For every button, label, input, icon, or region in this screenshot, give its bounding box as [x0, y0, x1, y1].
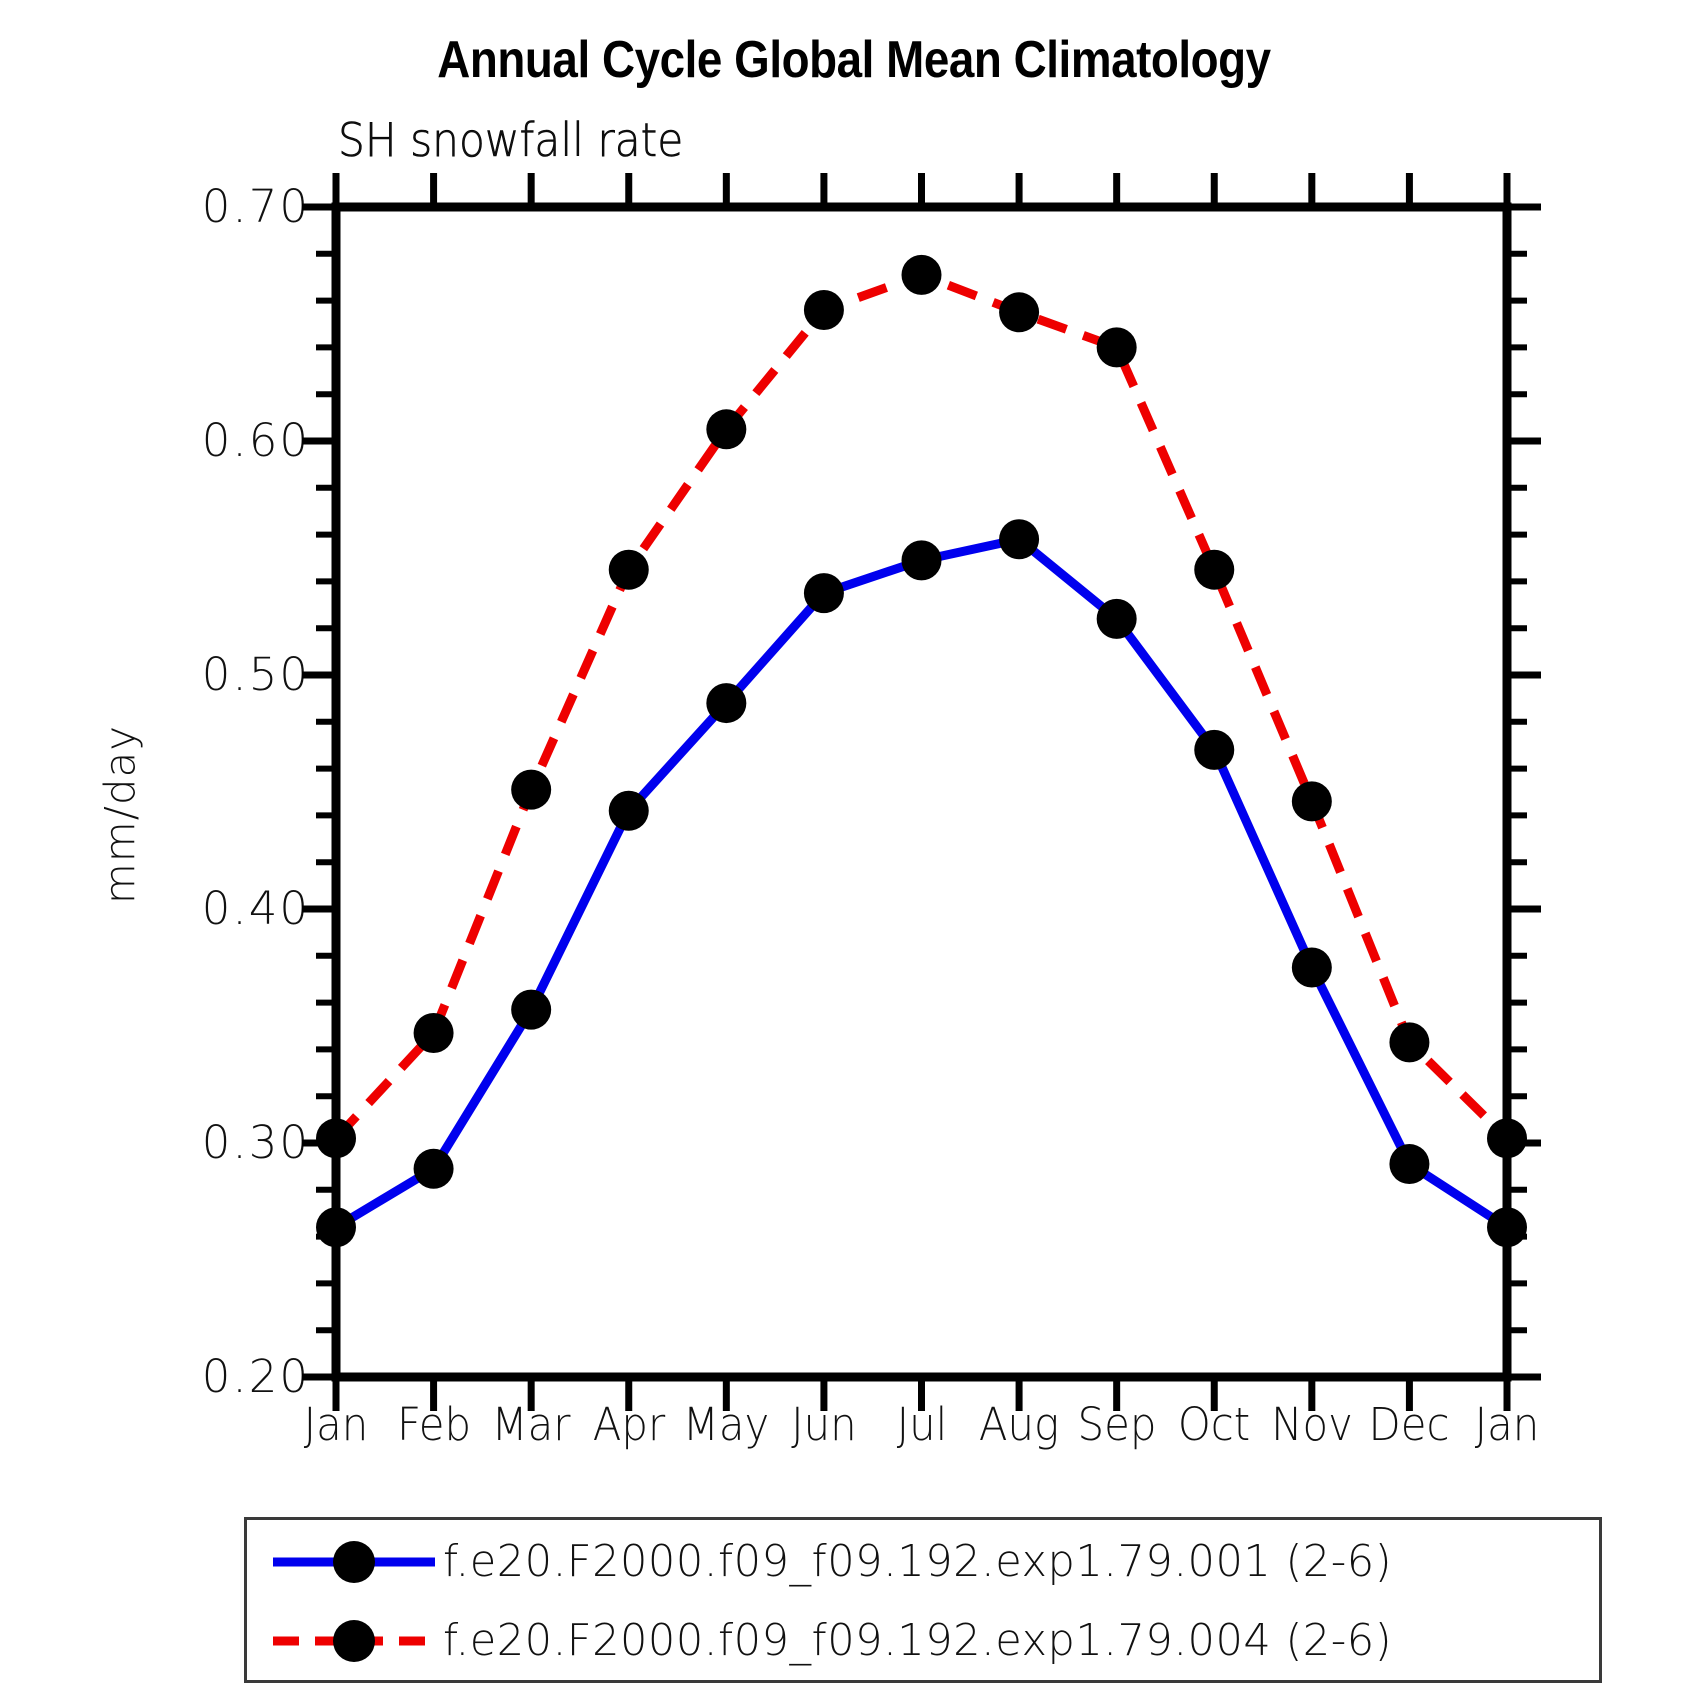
data-point-marker [804, 290, 844, 330]
data-point-marker [999, 292, 1039, 332]
data-point-marker [1487, 1118, 1527, 1158]
data-point-marker [1194, 550, 1234, 590]
x-axis-tick-labels: JanFebMarAprMayJunJulAugSepOctNovDecJan [336, 1400, 1507, 1460]
data-point-marker [1097, 599, 1137, 639]
data-point-marker [999, 519, 1039, 559]
data-point-marker [706, 409, 746, 449]
data-point-marker [609, 550, 649, 590]
data-point-marker [902, 255, 942, 295]
y-tick-label: 0.20 [110, 1354, 310, 1399]
page-title: Annual Cycle Global Mean Climatology [102, 30, 1605, 90]
chart-page: Annual Cycle Global Mean Climatology SH … [0, 0, 1708, 1708]
data-point-marker [511, 990, 551, 1030]
legend-label-1: f.e20.F2000.f09_f09.192.exp1.79.004 (2-6… [443, 1617, 1392, 1665]
plot-canvas [336, 207, 1507, 1377]
x-tick-label: Jan [1433, 1400, 1582, 1450]
data-point-marker [1097, 327, 1137, 367]
legend-swatch-1 [269, 1611, 439, 1671]
data-point-marker [1487, 1207, 1527, 1247]
legend-item-1[interactable]: f.e20.F2000.f09_f09.192.exp1.79.004 (2-6… [247, 1599, 1599, 1682]
data-point-marker [414, 1013, 454, 1053]
data-point-marker [609, 791, 649, 831]
data-point-marker [316, 1207, 356, 1247]
y-tick-label: 0.60 [110, 418, 310, 463]
legend-label-0: f.e20.F2000.f09_f09.192.exp1.79.001 (2-6… [443, 1538, 1392, 1586]
data-point-marker [414, 1149, 454, 1189]
y-axis-title: mm/day [96, 665, 145, 965]
data-point-marker [1389, 1022, 1429, 1062]
legend: f.e20.F2000.f09_f09.192.exp1.79.001 (2-6… [244, 1517, 1602, 1683]
legend-item-0[interactable]: f.e20.F2000.f09_f09.192.exp1.79.001 (2-6… [247, 1520, 1599, 1603]
series-line-0 [336, 539, 1507, 1227]
data-point-marker [1389, 1144, 1429, 1184]
data-point-marker [706, 683, 746, 723]
data-point-marker [316, 1118, 356, 1158]
data-point-marker [1292, 948, 1332, 988]
data-point-marker [1194, 730, 1234, 770]
y-tick-label: 0.70 [110, 184, 310, 229]
data-point-marker [511, 770, 551, 810]
data-point-marker [1292, 781, 1332, 821]
plot-area [336, 207, 1507, 1377]
legend-swatch-0 [269, 1532, 439, 1592]
data-point-marker [804, 573, 844, 613]
y-tick-label: 0.30 [110, 1120, 310, 1165]
chart-subtitle: SH snowfall rate [338, 113, 683, 167]
data-point-marker [902, 540, 942, 580]
